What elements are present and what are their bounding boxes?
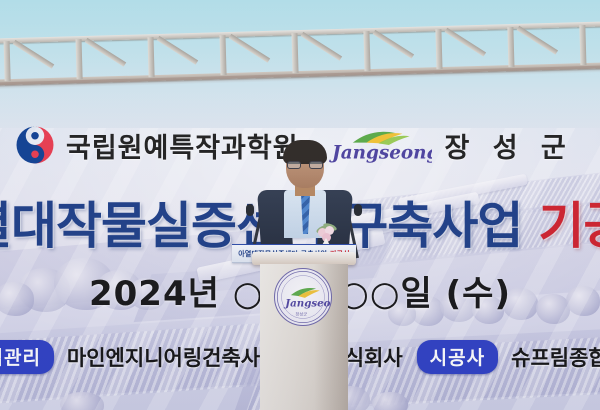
photograph-scene: 국립원예특작과학원 · Jangseong 장 성 군 별대작물실증센터 구축사…: [0, 0, 600, 410]
photo-color-grade: [0, 0, 600, 410]
